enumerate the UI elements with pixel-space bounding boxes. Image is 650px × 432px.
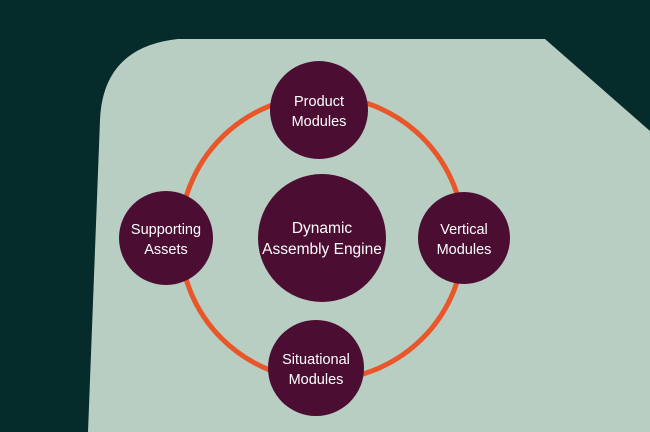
node-circle [258, 174, 386, 302]
node-supporting-assets[interactable]: Supporting Assets [119, 191, 213, 285]
node-situational-modules[interactable]: Situational Modules [268, 320, 364, 416]
node-circle [418, 192, 510, 284]
node-product-modules[interactable]: Product Modules [270, 61, 368, 159]
node-label-line2: Assets [144, 242, 188, 258]
node-circle [268, 320, 364, 416]
node-vertical-modules[interactable]: Vertical Modules [418, 192, 510, 284]
core-label-line1: Dynamic [292, 220, 353, 237]
node-label-line2: Modules [437, 242, 492, 258]
node-circle [270, 61, 368, 159]
core-label-line2: Assembly Engine [262, 241, 382, 258]
node-dynamic-assembly-engine[interactable]: Dynamic Assembly Engine [258, 174, 386, 302]
diagram-canvas: Supporting Assets Vertical Modules Produ… [0, 0, 650, 432]
node-label-line2: Modules [292, 114, 347, 130]
node-circle [119, 191, 213, 285]
node-label-line1: Situational [282, 352, 350, 368]
node-label-line2: Modules [289, 372, 344, 388]
node-label-line1: Product [294, 94, 344, 110]
node-label-line1: Vertical [440, 222, 488, 238]
node-label-line1: Supporting [131, 222, 201, 238]
